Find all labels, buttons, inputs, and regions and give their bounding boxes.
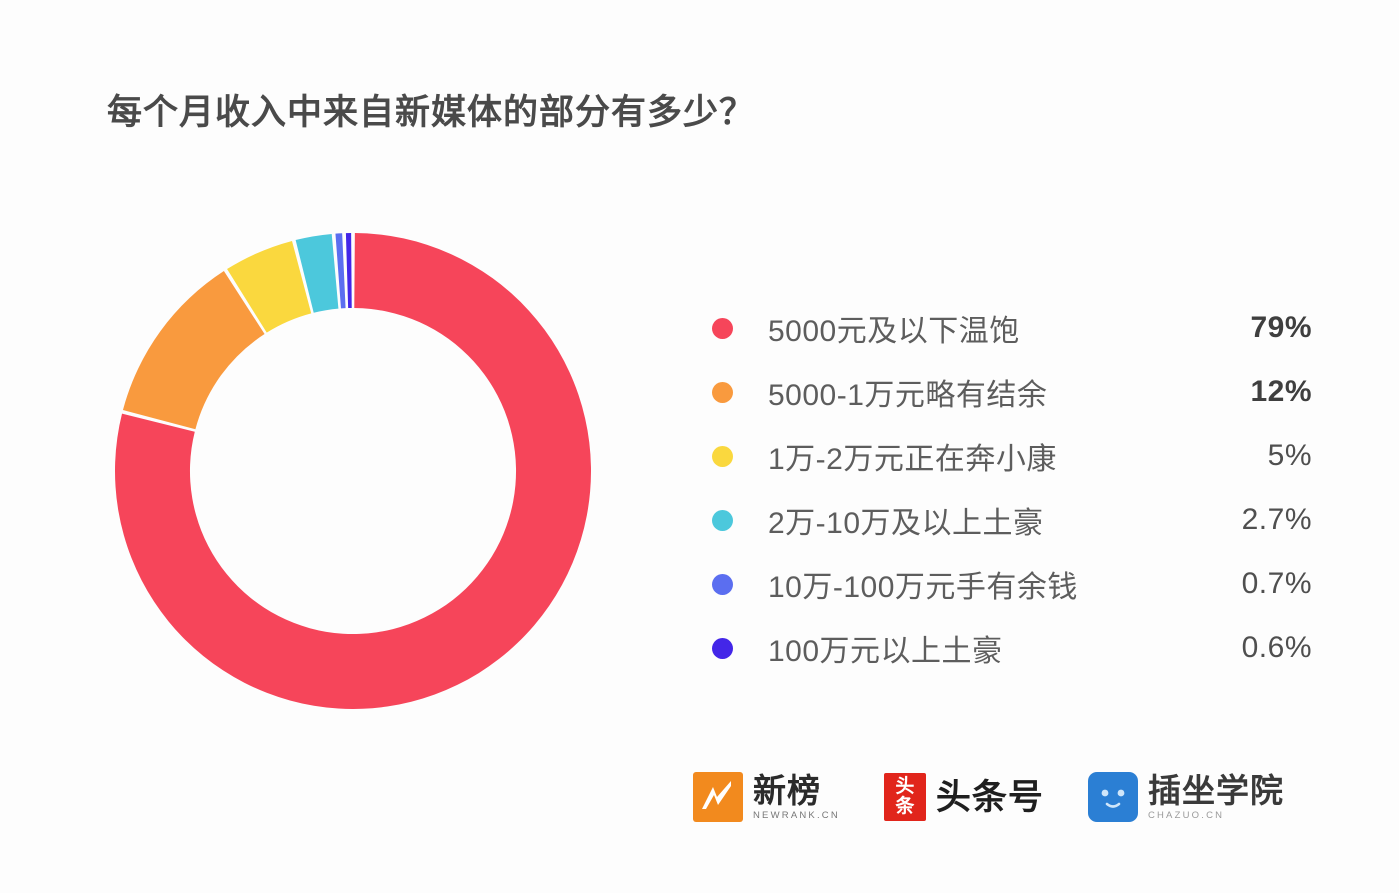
- donut-chart-svg: [115, 233, 591, 709]
- legend-item[interactable]: 5000元及以下温饱79%: [712, 296, 1312, 360]
- legend-color-swatch-icon: [712, 574, 733, 595]
- logo-toutiao: 头 条 头条号: [884, 773, 1044, 821]
- newrank-zigzag-icon: [693, 772, 743, 822]
- page-title: 每个月收入中来自新媒体的部分有多少？: [107, 84, 755, 135]
- chazuo-mark-icon: [1088, 772, 1138, 822]
- chazuo-wordmark: 插坐学院 CHAZUO.CN: [1148, 774, 1284, 821]
- legend-item-label: 5000元及以下温饱: [768, 306, 1182, 350]
- legend-item-value: 0.7%: [1182, 567, 1312, 601]
- newrank-cn-text: 新榜: [753, 774, 840, 807]
- legend-item-value: 0.6%: [1182, 631, 1312, 665]
- legend-item-label: 2万-10万及以上土豪: [768, 498, 1182, 542]
- legend-item-label: 5000-1万元略有结余: [768, 370, 1182, 414]
- chart-legend: 5000元及以下温饱79%5000-1万元略有结余12%1万-2万元正在奔小康5…: [712, 296, 1312, 680]
- toutiao-cn-text: 头条号: [936, 780, 1044, 815]
- legend-item[interactable]: 10万-100万元手有余钱0.7%: [712, 552, 1312, 616]
- newrank-wordmark: 新榜 NEWRANK.CN: [753, 774, 840, 821]
- toutiao-mark-line1: 头: [889, 777, 921, 797]
- legend-color-swatch-icon: [712, 446, 733, 467]
- legend-color-swatch-icon: [712, 510, 733, 531]
- legend-color-swatch-icon: [712, 638, 733, 659]
- newrank-en-text: NEWRANK.CN: [753, 811, 840, 821]
- legend-item[interactable]: 2万-10万及以上土豪2.7%: [712, 488, 1312, 552]
- legend-item-value: 79%: [1182, 311, 1312, 345]
- legend-item-label: 1万-2万元正在奔小康: [768, 434, 1182, 478]
- legend-item[interactable]: 100万元以上土豪0.6%: [712, 616, 1312, 680]
- toutiao-mark-line2: 条: [889, 797, 921, 817]
- chazuo-face-icon: [1088, 772, 1138, 822]
- legend-item-value: 5%: [1182, 439, 1312, 473]
- donut-chart: [115, 233, 591, 709]
- logo-newrank: 新榜 NEWRANK.CN: [693, 772, 840, 822]
- newrank-mark-icon: [693, 772, 743, 822]
- legend-item-label: 100万元以上土豪: [768, 626, 1182, 670]
- footer-logo-bar: 新榜 NEWRANK.CN 头 条 头条号 插坐学院 CHAZUO.CN: [693, 772, 1284, 822]
- legend-color-swatch-icon: [712, 318, 733, 339]
- legend-item-value: 12%: [1182, 375, 1312, 409]
- chazuo-en-text: CHAZUO.CN: [1148, 811, 1284, 821]
- slide-canvas: 每个月收入中来自新媒体的部分有多少？ 5000元及以下温饱79%5000-1万元…: [0, 0, 1399, 893]
- legend-item[interactable]: 1万-2万元正在奔小康5%: [712, 424, 1312, 488]
- chazuo-cn-text: 插坐学院: [1148, 774, 1284, 807]
- logo-chazuo: 插坐学院 CHAZUO.CN: [1088, 772, 1284, 822]
- legend-color-swatch-icon: [712, 382, 733, 403]
- donut-slice-group: [115, 233, 591, 709]
- toutiao-mark-icon: 头 条: [884, 773, 926, 821]
- legend-item[interactable]: 5000-1万元略有结余12%: [712, 360, 1312, 424]
- donut-slice[interactable]: [346, 233, 352, 308]
- legend-item-value: 2.7%: [1182, 503, 1312, 537]
- legend-item-label: 10万-100万元手有余钱: [768, 562, 1182, 606]
